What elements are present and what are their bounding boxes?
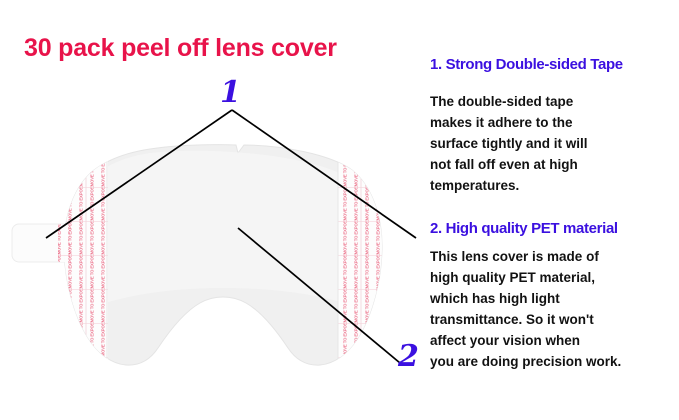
feature-body-2: This lens cover is made of high quality … <box>430 246 679 372</box>
feature-body-1-line-4: not fall off even at high <box>430 154 679 175</box>
product-infographic: 30 pack peel off lens cover REMOVE TO EX… <box>0 0 679 420</box>
pull-tab-tape <box>58 224 70 262</box>
feature-block-tape: 1. Strong Double-sided Tape The double-s… <box>430 56 679 196</box>
feature-body-2-line-6: you are doing precision work. <box>430 351 679 372</box>
feature-body-1-line-1: The double-sided tape <box>430 91 679 112</box>
feature-body-1: The double-sided tape makes it adhere to… <box>430 91 679 196</box>
feature-body-2-line-2: high quality PET material, <box>430 267 679 288</box>
feature-body-1-line-3: surface tightly and it will <box>430 133 679 154</box>
lens-cover-illustration: REMOVE TO EXPOSE <box>0 120 450 410</box>
feature-list: 1. Strong Double-sided Tape The double-s… <box>430 56 679 372</box>
adhesive-tape-strip-right <box>338 140 384 390</box>
feature-heading-1: 1. Strong Double-sided Tape <box>430 56 679 73</box>
page-title: 30 pack peel off lens cover <box>24 34 337 63</box>
feature-body-2-line-4: transmittance. So it won't <box>430 309 679 330</box>
callout-marker-1: 1 <box>220 78 241 108</box>
feature-body-1-line-2: makes it adhere to the <box>430 112 679 133</box>
feature-block-pet: 2. High quality PET material This lens c… <box>430 220 679 372</box>
callout-marker-2: 2 <box>398 342 419 372</box>
feature-body-1-line-5: temperatures. <box>430 175 679 196</box>
feature-heading-2: 2. High quality PET material <box>430 220 679 237</box>
feature-body-2-line-1: This lens cover is made of <box>430 246 679 267</box>
feature-body-2-line-5: affect your vision when <box>430 330 679 351</box>
feature-body-2-line-3: which has high light <box>430 288 679 309</box>
